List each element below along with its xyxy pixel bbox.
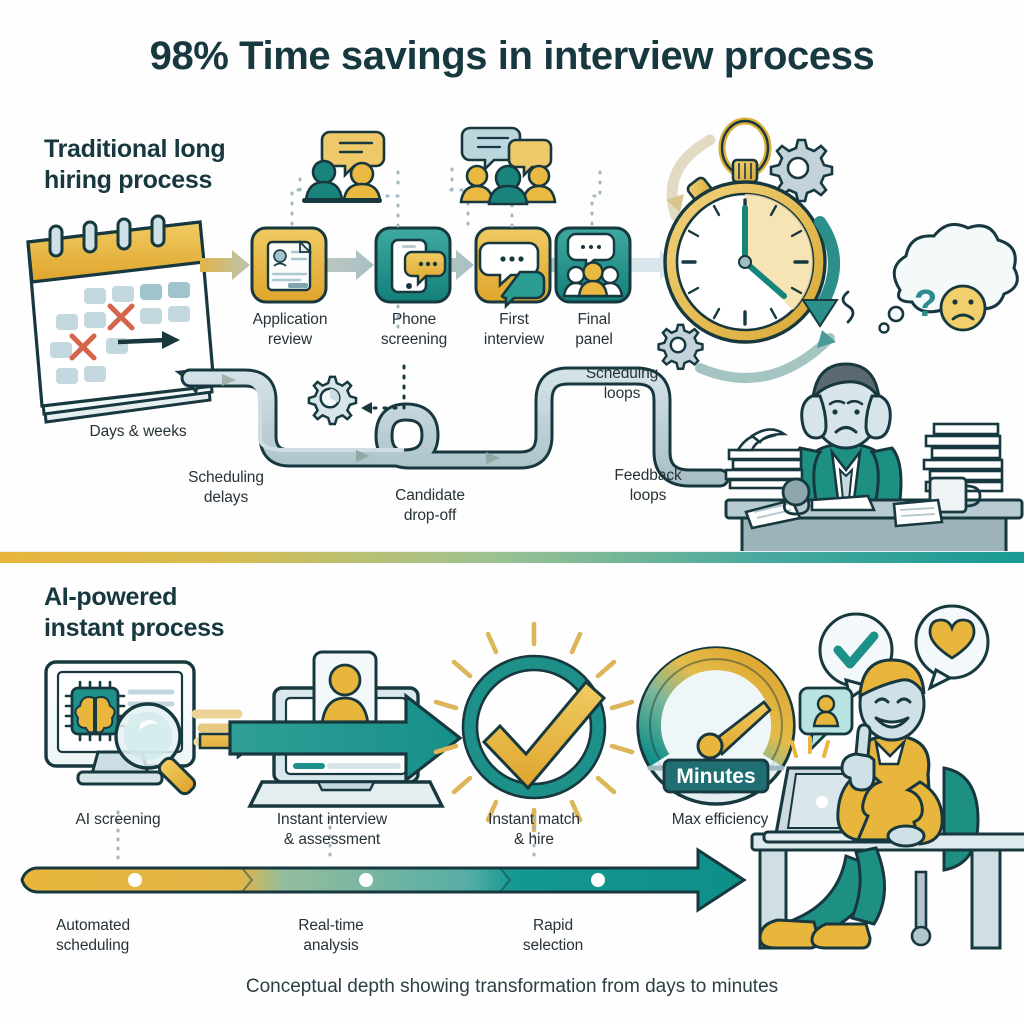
step-label-application-review: Applicationreview xyxy=(238,310,342,350)
ai-screening-icon xyxy=(46,662,244,797)
stopwatch-icon xyxy=(659,121,837,378)
friction-label-scheduling-delays: Schedulingdelays xyxy=(156,468,296,508)
ai-step-label-ai-screening: AI screening xyxy=(48,810,188,830)
traditional-illustration: ? xyxy=(0,0,1024,556)
question-mark-icon: ? xyxy=(914,283,937,325)
gear-icon xyxy=(659,325,703,369)
timeline-arrow xyxy=(22,850,744,910)
check-circle-burst-icon xyxy=(436,624,632,830)
friction-label-candidate-dropoff: Candidatedrop-off xyxy=(360,486,500,526)
step-label-final-panel: Finalpanel xyxy=(542,310,646,350)
step-label-phone-screening: Phonescreening xyxy=(362,310,466,350)
timeline-label-automated-scheduling: Automatedscheduling xyxy=(56,916,206,956)
timeline-label-realtime-analysis: Real-timeanalysis xyxy=(266,916,396,956)
step-icon-first-interview xyxy=(476,228,550,306)
calendar-label: Days & weeks xyxy=(58,422,218,442)
infographic-canvas: 98% Time savings in interview process Tr… xyxy=(0,0,1024,1024)
timeline-label-rapid-selection: Rapidselection xyxy=(488,916,618,956)
ai-step-label-max-efficiency: Max efficiency xyxy=(640,810,800,830)
speech-bubble-heart xyxy=(916,606,988,688)
step-icon-application-review xyxy=(252,228,326,302)
friction-label-scheduling-loops: Scheduingloops xyxy=(552,364,692,404)
instant-interview-icon xyxy=(200,652,460,806)
calendar-icon xyxy=(28,216,214,422)
speed-gauge-icon: Minutes xyxy=(638,648,794,804)
two-people-interview-icon xyxy=(302,132,384,203)
step-icon-final-panel xyxy=(556,228,630,302)
gauge-badge-text: Minutes xyxy=(676,765,755,788)
sad-face-icon xyxy=(941,286,985,330)
timeline-stop-dot xyxy=(591,873,605,887)
sparkle-lines xyxy=(792,738,828,756)
ai-step-label-instant-match: Instant match& hire xyxy=(458,810,610,850)
footer-caption: Conceptual depth showing transformation … xyxy=(0,976,1024,998)
brain-icon xyxy=(75,697,114,733)
avatar-card-bubble xyxy=(800,688,852,750)
step-icon-phone-screening xyxy=(376,228,450,302)
ai-step-label-instant-interview: Instant interview& assessment xyxy=(244,810,420,850)
timeline-stop-dot xyxy=(359,873,373,887)
three-people-panel-icon xyxy=(461,128,555,204)
thought-bubble: ? xyxy=(880,224,1018,332)
friction-label-feedback-loops: Feedbackloops xyxy=(578,466,718,506)
happy-worker-illustration xyxy=(752,606,1024,948)
timeline-stop-dot xyxy=(128,873,142,887)
gear-icon xyxy=(309,377,356,424)
